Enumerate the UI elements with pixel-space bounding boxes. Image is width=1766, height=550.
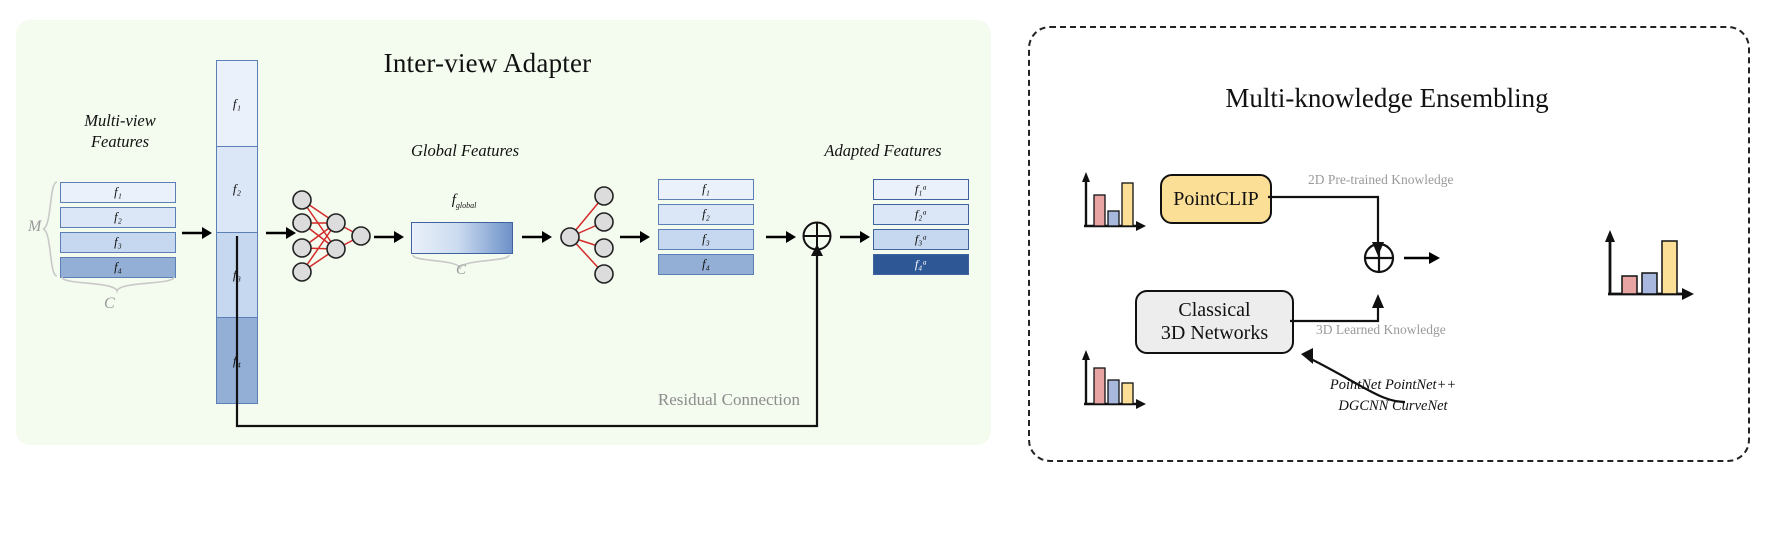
list-item: f₂ᵃ [873,204,969,225]
adapted-feature-stack: f₁ᵃ f₂ᵃ f₃ᵃ f₄ᵃ [873,179,969,275]
list-item: f₁ᵃ [873,179,969,200]
edge-label-2d-knowledge: 2D Pre-trained Knowledge [1308,172,1453,188]
page-title: Inter-view Adapter [0,48,975,79]
adapted-features-label: Adapted Features [795,140,971,161]
global-feature-symbol: fglobal [418,192,510,210]
classical-label-line1: Classical [1178,299,1250,322]
network-names-line2: DGCNN CurveNet [1298,396,1488,417]
classical-3d-networks-box[interactable]: Classical 3D Networks [1135,290,1294,354]
list-item: f₁ [216,60,258,147]
arrow-icon [840,228,870,246]
residual-connection-label: Residual Connection [600,390,800,410]
ensembled-output-histogram-icon [1600,228,1700,306]
network-names-line1: PointNet PointNet++ [1298,375,1488,396]
ensemble-title: Multi-knowledge Ensembling [1028,83,1746,114]
list-item: f₁ [60,182,176,203]
list-item: f₁ [658,179,754,200]
edge-label-3d-knowledge: 3D Learned Knowledge [1316,322,1446,338]
list-item: f₂ [216,146,258,233]
brace-m-icon [40,180,60,278]
list-item: f₃ᵃ [873,229,969,250]
list-item: f₂ [60,207,176,228]
list-item: f₄ᵃ [873,254,969,275]
multiview-features-label-line2: Features [40,131,200,152]
classical3d-input-histogram-icon [1078,348,1150,412]
multiview-features-label: Multi-view Features [40,110,200,152]
pointclip-label: PointCLIP [1173,188,1259,211]
multiview-features-label-line1: Multi-view [40,110,200,131]
arrow-icon [1404,249,1440,267]
global-features-label: Global Features [380,140,550,161]
dimension-m-label: M [28,218,41,236]
dimension-c-label: C [104,295,115,313]
network-names-list: PointNet PointNet++ DGCNN CurveNet [1298,375,1488,417]
classical-label-line2: 3D Networks [1161,322,1268,345]
pointclip-box[interactable]: PointCLIP [1160,174,1272,224]
classical-to-sum-edge [1290,288,1400,348]
pointclip-input-histogram-icon [1078,170,1150,234]
sum-operator-icon [1361,240,1397,276]
list-item: f₂ [658,204,754,225]
